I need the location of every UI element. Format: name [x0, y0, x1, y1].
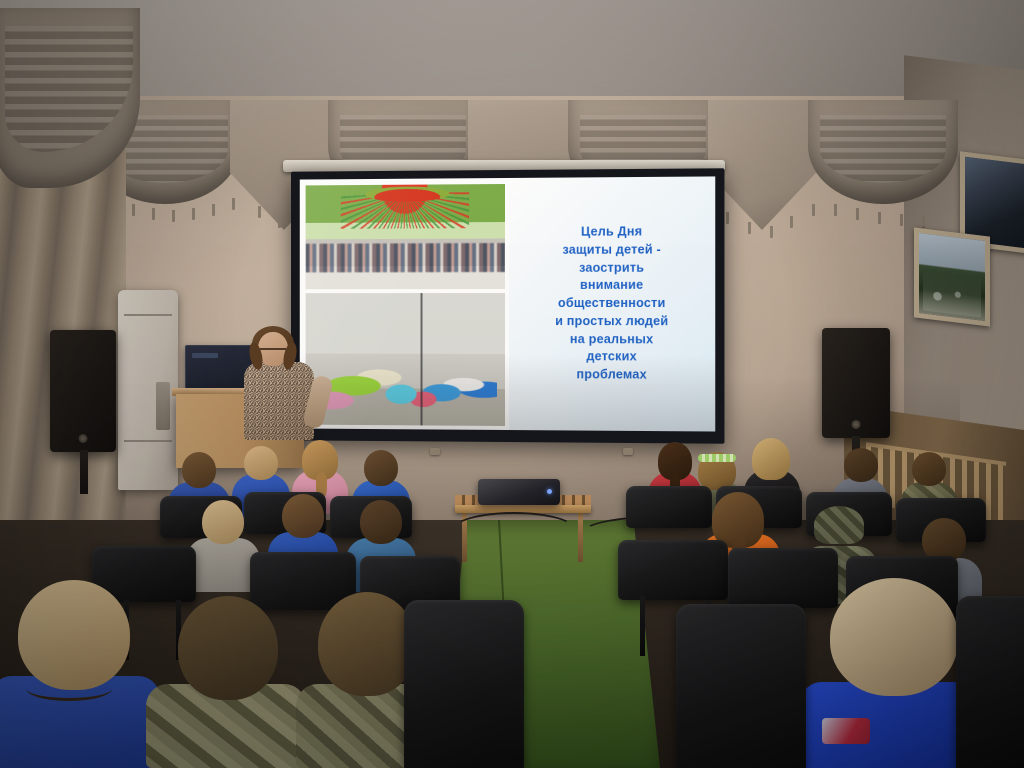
- slide-text-panel: Цель Дня защиты детей - заострить вниман…: [509, 176, 715, 431]
- slide-line: общественности: [555, 295, 668, 313]
- kid-hair: [752, 438, 790, 480]
- carousel-photo: [306, 184, 506, 289]
- left-speaker: [50, 330, 116, 452]
- kid-head: [364, 450, 398, 486]
- cabinet-seam: [124, 314, 172, 316]
- slide-line: и простых людей: [555, 313, 668, 331]
- chair: [956, 596, 1024, 768]
- crowd: [306, 243, 506, 273]
- kid-head: [18, 580, 130, 690]
- slide-line: защиты детей -: [555, 241, 668, 259]
- slide-line: на реальных: [555, 331, 668, 349]
- chair: [404, 600, 524, 768]
- kid-head: [912, 452, 946, 486]
- kid-head: [282, 494, 324, 538]
- stage-photo: [306, 293, 506, 426]
- kid-row3: [146, 596, 306, 768]
- chair: [676, 604, 806, 768]
- screen-surface: Цель Дня защиты детей - заострить вниман…: [300, 176, 715, 431]
- projector: [478, 479, 560, 505]
- stage-pole: [421, 293, 423, 426]
- wall-hook: [430, 448, 440, 455]
- shirt-logo-patch: [822, 718, 870, 744]
- kid-head: [244, 446, 278, 480]
- kid-head: [830, 578, 958, 696]
- auditorium-presentation-photo: Цель Дня защиты детей - заострить вниман…: [0, 0, 1024, 768]
- presenter: [236, 332, 320, 442]
- right-speaker: [822, 328, 890, 438]
- kid-head: [178, 596, 278, 700]
- speaker-cone: [852, 420, 861, 429]
- kid-necklace: [26, 676, 112, 701]
- left-speaker-stand: [80, 450, 88, 494]
- kid-head: [360, 500, 402, 544]
- slide-line: проблемах: [555, 366, 668, 384]
- valance-swag: [808, 100, 958, 204]
- costumed-children: [314, 335, 498, 418]
- projector-cable: [452, 512, 576, 550]
- kid-head: [182, 452, 216, 488]
- kid-row3: [0, 580, 150, 768]
- cabinet-seam: [124, 440, 172, 442]
- speaker-cone: [79, 434, 88, 443]
- slide-heading: Цель Дня защиты детей - заострить вниман…: [551, 223, 672, 384]
- picture-art: [919, 233, 985, 321]
- chair: [618, 540, 728, 600]
- slide-photos: [300, 178, 509, 430]
- kid-cap: [814, 506, 864, 544]
- slide-line: Цель Дня: [555, 223, 668, 241]
- wall-hook: [623, 448, 633, 455]
- presenter-glasses: [260, 348, 286, 356]
- presenter-blouse: [244, 362, 314, 440]
- slide-line: детских: [555, 348, 668, 366]
- slide-line: внимание: [555, 277, 668, 295]
- cabinet-vent: [156, 382, 170, 430]
- picture-frame-park: [914, 227, 990, 326]
- kid-torso: [186, 538, 260, 592]
- kid-row2: [186, 500, 260, 592]
- kid-head: [318, 592, 416, 696]
- chair-leg: [640, 596, 645, 656]
- kid-head: [202, 500, 244, 544]
- carousel-canopy: [365, 186, 449, 201]
- slide-line: заострить: [555, 259, 668, 277]
- kid-headband: [698, 454, 736, 462]
- projection-screen: Цель Дня защиты детей - заострить вниман…: [291, 168, 724, 443]
- kid-head: [844, 448, 878, 482]
